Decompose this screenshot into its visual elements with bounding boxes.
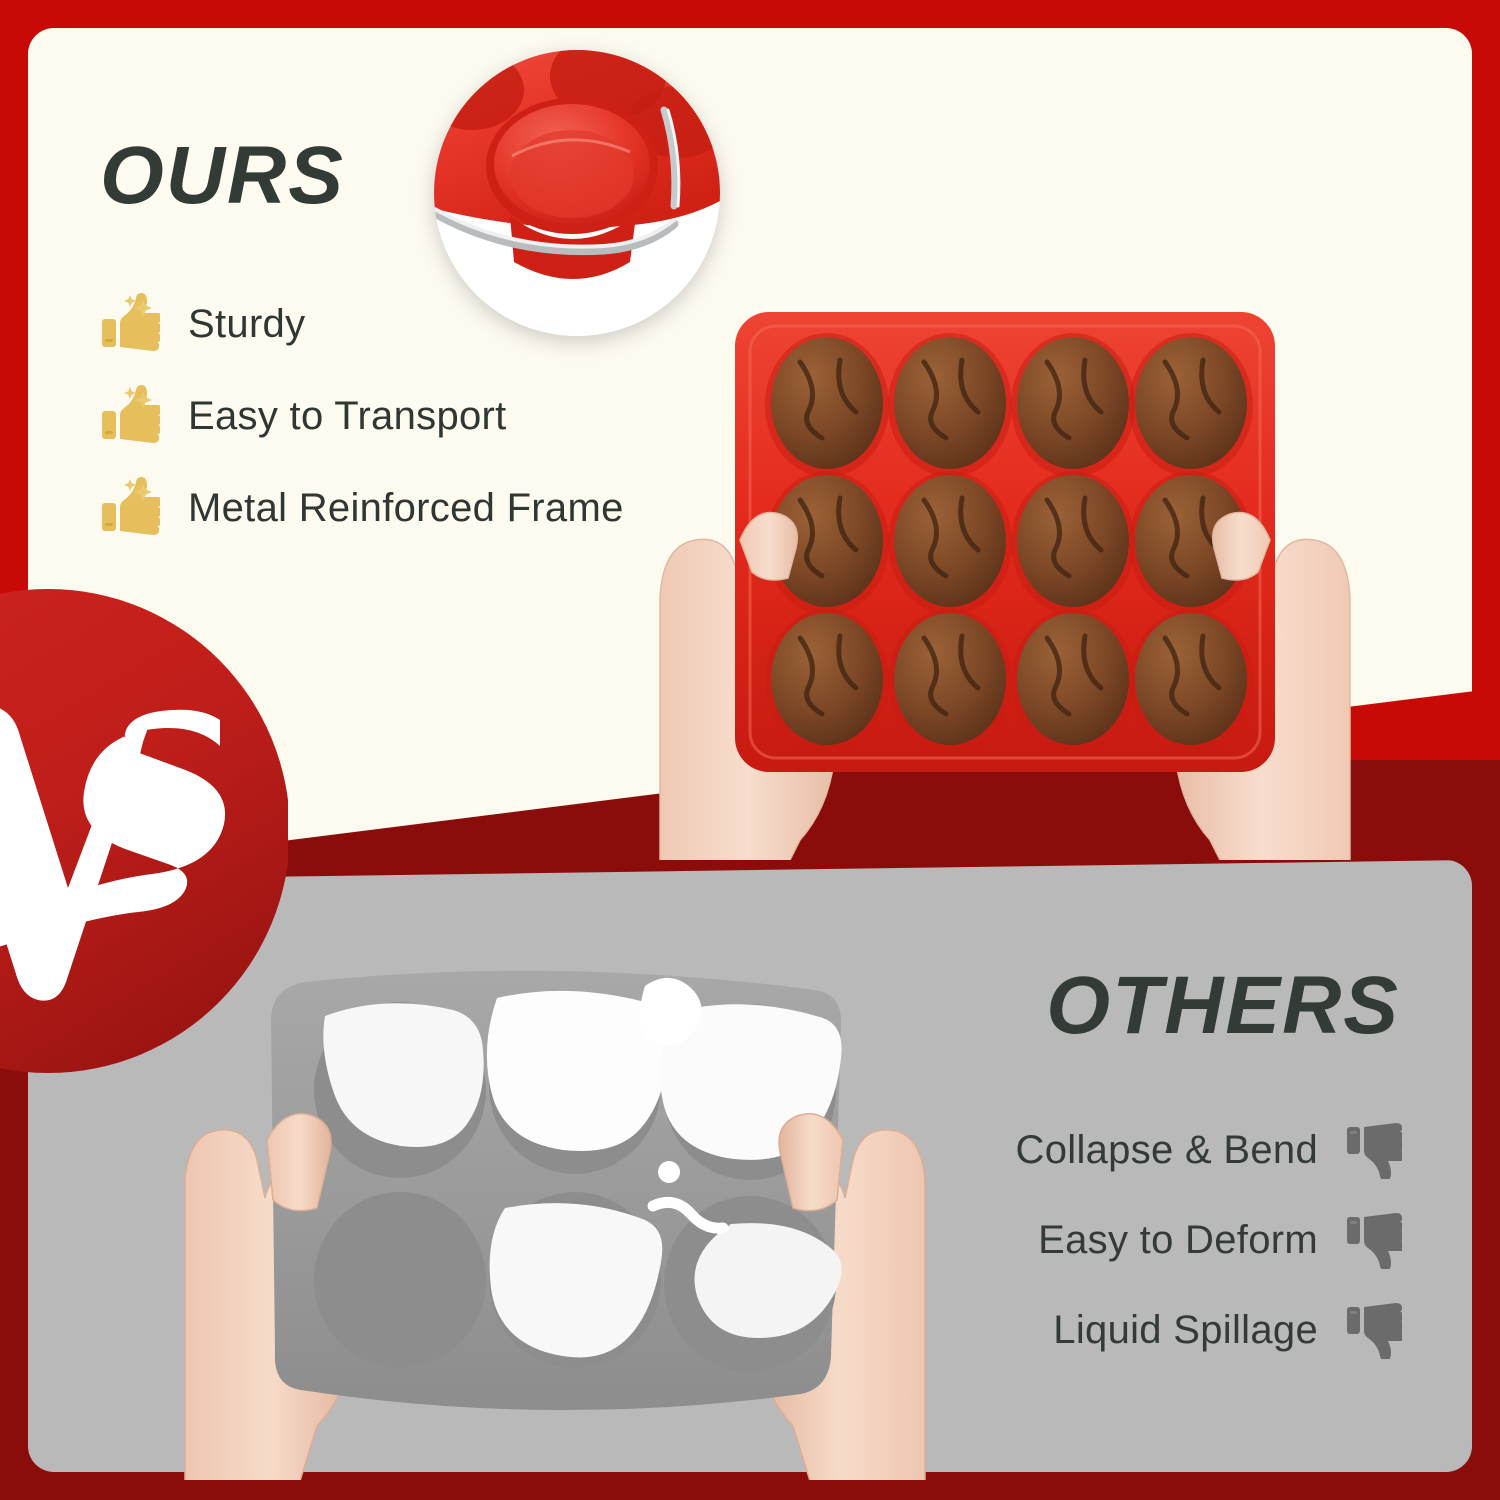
ours-product-photo — [640, 300, 1370, 860]
list-item-label: Sturdy — [188, 302, 305, 347]
list-item-label: Liquid Spillage — [1053, 1308, 1318, 1353]
thumbs-down-icon — [1344, 1211, 1402, 1269]
infographic-canvas: OURS OTHERS Sturdy Easy to Transport — [0, 0, 1500, 1500]
ours-inset-photo — [432, 48, 722, 338]
others-product-photo — [175, 950, 935, 1480]
thumbs-up-sparkle-icon — [98, 477, 160, 539]
thumbs-down-icon — [1344, 1301, 1402, 1359]
list-item: Metal Reinforced Frame — [98, 462, 718, 554]
list-item-label: Easy to Deform — [1038, 1218, 1318, 1263]
list-item-label: Metal Reinforced Frame — [188, 486, 624, 531]
thumbs-up-sparkle-icon — [98, 385, 160, 447]
thumbs-up-sparkle-icon — [98, 293, 160, 355]
list-item-label: Easy to Transport — [188, 394, 507, 439]
muffin-pan-grey-deformed — [271, 971, 842, 1410]
muffin-pan-red — [735, 312, 1275, 772]
thumbs-down-icon — [1344, 1121, 1402, 1179]
list-item-label: Collapse & Bend — [1016, 1128, 1318, 1173]
ours-heading: OURS — [100, 135, 345, 217]
list-item: Easy to Transport — [98, 370, 718, 462]
others-heading: OTHERS — [1046, 965, 1400, 1047]
